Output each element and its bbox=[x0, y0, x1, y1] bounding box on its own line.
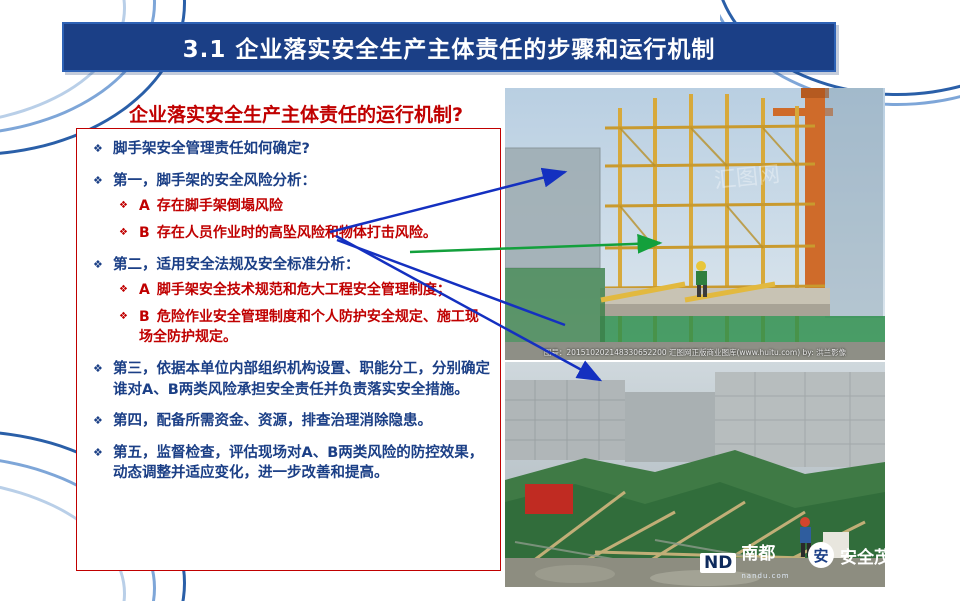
logo-nandu: ND 南都 nandu.com bbox=[700, 544, 790, 582]
list-item: ❖ 第一，脚手架的安全风险分析： ❖ A 存在脚手架倒塌风险 ❖ B 存在人员作… bbox=[83, 171, 492, 244]
diamond-bullet-icon: ❖ bbox=[93, 361, 103, 377]
anquan-mark-icon: 安 bbox=[808, 542, 834, 568]
list-item: ❖ 第二，适用安全法规及安全标准分析： ❖ A 脚手架安全技术规范和危大工程安全… bbox=[83, 255, 492, 348]
diamond-bullet-icon: ❖ bbox=[119, 226, 128, 240]
sub-bullet-list: ❖ A 脚手架安全技术规范和危大工程安全管理制度； ❖ B 危险作业安全管理制度… bbox=[113, 281, 492, 348]
list-item: ❖ 脚手架安全管理责任如何确定? bbox=[83, 139, 492, 160]
sub-bullet-text: 脚手架安全技术规范和危大工程安全管理制度； bbox=[157, 282, 451, 298]
diamond-bullet-icon: ❖ bbox=[93, 257, 103, 273]
sub-bullet-list: ❖ A 存在脚手架倒塌风险 ❖ B 存在人员作业时的高坠风险和物体打击风险。 bbox=[113, 197, 492, 244]
nandu-mark: ND bbox=[700, 553, 736, 573]
list-item: ❖ B 危险作业安全管理制度和个人防护安全规定、施工现场全防护规定。 bbox=[113, 308, 492, 348]
sub-bullet-text: 存在人员作业时的高坠风险和物体打击风险。 bbox=[157, 225, 437, 241]
list-item: ❖ 第五，监督检查，评估现场对A、B两类风险的防控效果，动态调整并适应变化，进一… bbox=[83, 443, 492, 484]
sub-bullet-text: 存在脚手架倒塌风险 bbox=[157, 198, 283, 214]
diamond-bullet-icon: ❖ bbox=[119, 310, 128, 324]
slide-canvas: 3.1 企业落实安全生产主体责任的步骤和运行机制 企业落实安全生产主体责任的运行… bbox=[0, 0, 960, 601]
diamond-bullet-icon: ❖ bbox=[119, 283, 128, 297]
nandu-name-cn: 南都 bbox=[741, 544, 775, 564]
bullet-text: 第三，依据本单位内部组织机构设置、职能分工，分别确定谁对A、B两类风险承担安全责… bbox=[113, 361, 490, 398]
diamond-bullet-icon: ❖ bbox=[93, 173, 103, 189]
bullet-text: 第四，配备所需资金、资源，排查治理消除隐患。 bbox=[113, 413, 432, 429]
diamond-bullet-icon: ❖ bbox=[93, 413, 103, 429]
list-item: ❖ A 脚手架安全技术规范和危大工程安全管理制度； bbox=[113, 281, 492, 301]
list-item: ❖ 第四，配备所需资金、资源，排查治理消除隐患。 bbox=[83, 411, 492, 432]
slide-title: 3.1 企业落实安全生产主体责任的步骤和运行机制 bbox=[183, 30, 716, 64]
diamond-bullet-icon: ❖ bbox=[93, 445, 103, 461]
photo-credit: 图号：201510202148330652200 汇图网正版商业图库(www.h… bbox=[505, 347, 885, 358]
photo-top-graphic: 汇图网 bbox=[505, 88, 885, 360]
bullet-text: 第五，监督检查，评估现场对A、B两类风险的防控效果，动态调整并适应变化，进一步改… bbox=[113, 445, 483, 482]
diamond-bullet-icon: ❖ bbox=[93, 141, 103, 157]
list-item: ❖ 第三，依据本单位内部组织机构设置、职能分工，分别确定谁对A、B两类风险承担安… bbox=[83, 359, 492, 400]
list-item: ❖ A 存在脚手架倒塌风险 bbox=[113, 197, 492, 217]
photo-scaffolding-construction: 汇图网 图号：201510202148330652200 汇图网正版商业图库(w… bbox=[505, 88, 885, 360]
anquan-name: 安全茂 bbox=[840, 543, 891, 568]
sub-bullet-tag: A bbox=[139, 197, 152, 217]
logo-anquanmao: 安 安全茂 bbox=[808, 542, 891, 568]
sub-bullet-tag: B bbox=[139, 224, 152, 244]
slide-subtitle: 企业落实安全生产主体责任的运行机制? bbox=[96, 100, 496, 127]
content-box: ❖ 脚手架安全管理责任如何确定? ❖ 第一，脚手架的安全风险分析： ❖ A 存在… bbox=[76, 128, 501, 571]
slide-title-banner: 3.1 企业落实安全生产主体责任的步骤和运行机制 bbox=[62, 22, 836, 72]
nandu-name-en: nandu.com bbox=[741, 572, 789, 580]
bullet-text: 脚手架安全管理责任如何确定? bbox=[113, 141, 310, 157]
bullet-text: 第一，脚手架的安全风险分析： bbox=[113, 173, 316, 189]
sub-bullet-tag: A bbox=[139, 281, 152, 301]
bullet-list: ❖ 脚手架安全管理责任如何确定? ❖ 第一，脚手架的安全风险分析： ❖ A 存在… bbox=[83, 139, 492, 484]
sub-bullet-text: 危险作业安全管理制度和个人防护安全规定、施工现场全防护规定。 bbox=[139, 309, 479, 345]
bullet-text: 第二，适用安全法规及安全标准分析： bbox=[113, 257, 360, 273]
diamond-bullet-icon: ❖ bbox=[119, 199, 128, 213]
sub-bullet-tag: B bbox=[139, 308, 152, 328]
list-item: ❖ B 存在人员作业时的高坠风险和物体打击风险。 bbox=[113, 224, 492, 244]
